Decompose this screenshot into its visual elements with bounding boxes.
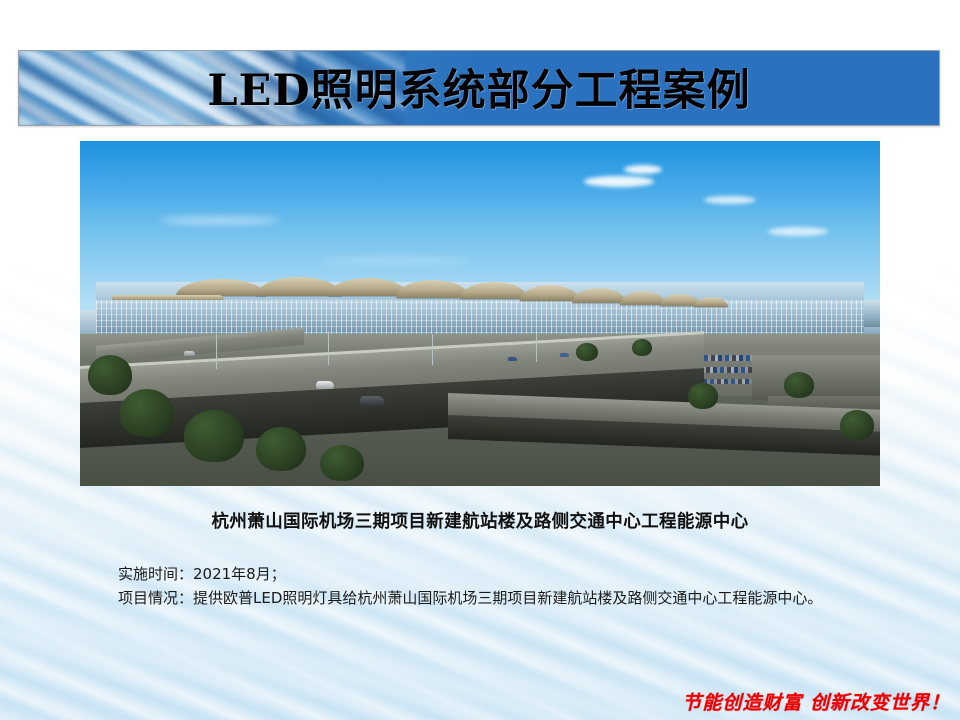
photo-car xyxy=(360,396,384,407)
photo-cloud-wisp xyxy=(160,217,280,224)
footer-slogan: 节能创造财富 创新改变世界！ xyxy=(682,688,950,715)
photo-garage-block xyxy=(752,355,880,400)
photo-caption: 杭州萧山国际机场三期项目新建航站楼及路侧交通中心工程能源中心 xyxy=(0,508,960,533)
body-line-project-details: 项目情况：提供欧普LED照明灯具给杭州萧山国际机场三期项目新建航站楼及路侧交通中… xyxy=(88,586,858,610)
photo-cloud xyxy=(584,176,654,187)
photo-tree xyxy=(320,445,364,481)
slide-canvas: LED照明系统部分工程案例 xyxy=(0,0,960,720)
photo-car xyxy=(508,357,517,361)
photo-entry-canopy xyxy=(112,295,224,300)
title-banner: LED照明系统部分工程案例 xyxy=(18,50,940,126)
photo-car xyxy=(316,381,334,389)
photo-tree xyxy=(120,389,174,437)
photo-car xyxy=(560,353,569,357)
photo-light-pole xyxy=(432,334,433,365)
photo-light-pole xyxy=(536,334,537,362)
photo-car xyxy=(184,351,195,356)
photo-tree xyxy=(784,372,814,398)
photo-tree xyxy=(88,355,132,395)
project-photo xyxy=(80,141,880,486)
body-line-implementation-time: 实施时间：2021年8月； xyxy=(88,562,858,586)
photo-tree xyxy=(576,343,598,361)
photo-tree xyxy=(632,339,652,356)
photo-tree xyxy=(256,427,306,471)
photo-tree xyxy=(688,383,718,409)
photo-tree xyxy=(184,410,244,462)
page-title: LED照明系统部分工程案例 xyxy=(19,51,939,125)
photo-tree xyxy=(840,410,874,440)
photo-light-pole xyxy=(216,331,217,369)
photo-light-pole xyxy=(328,331,329,366)
body-text-block: 实施时间：2021年8月； 项目情况：提供欧普LED照明灯具给杭州萧山国际机场三… xyxy=(88,562,858,610)
